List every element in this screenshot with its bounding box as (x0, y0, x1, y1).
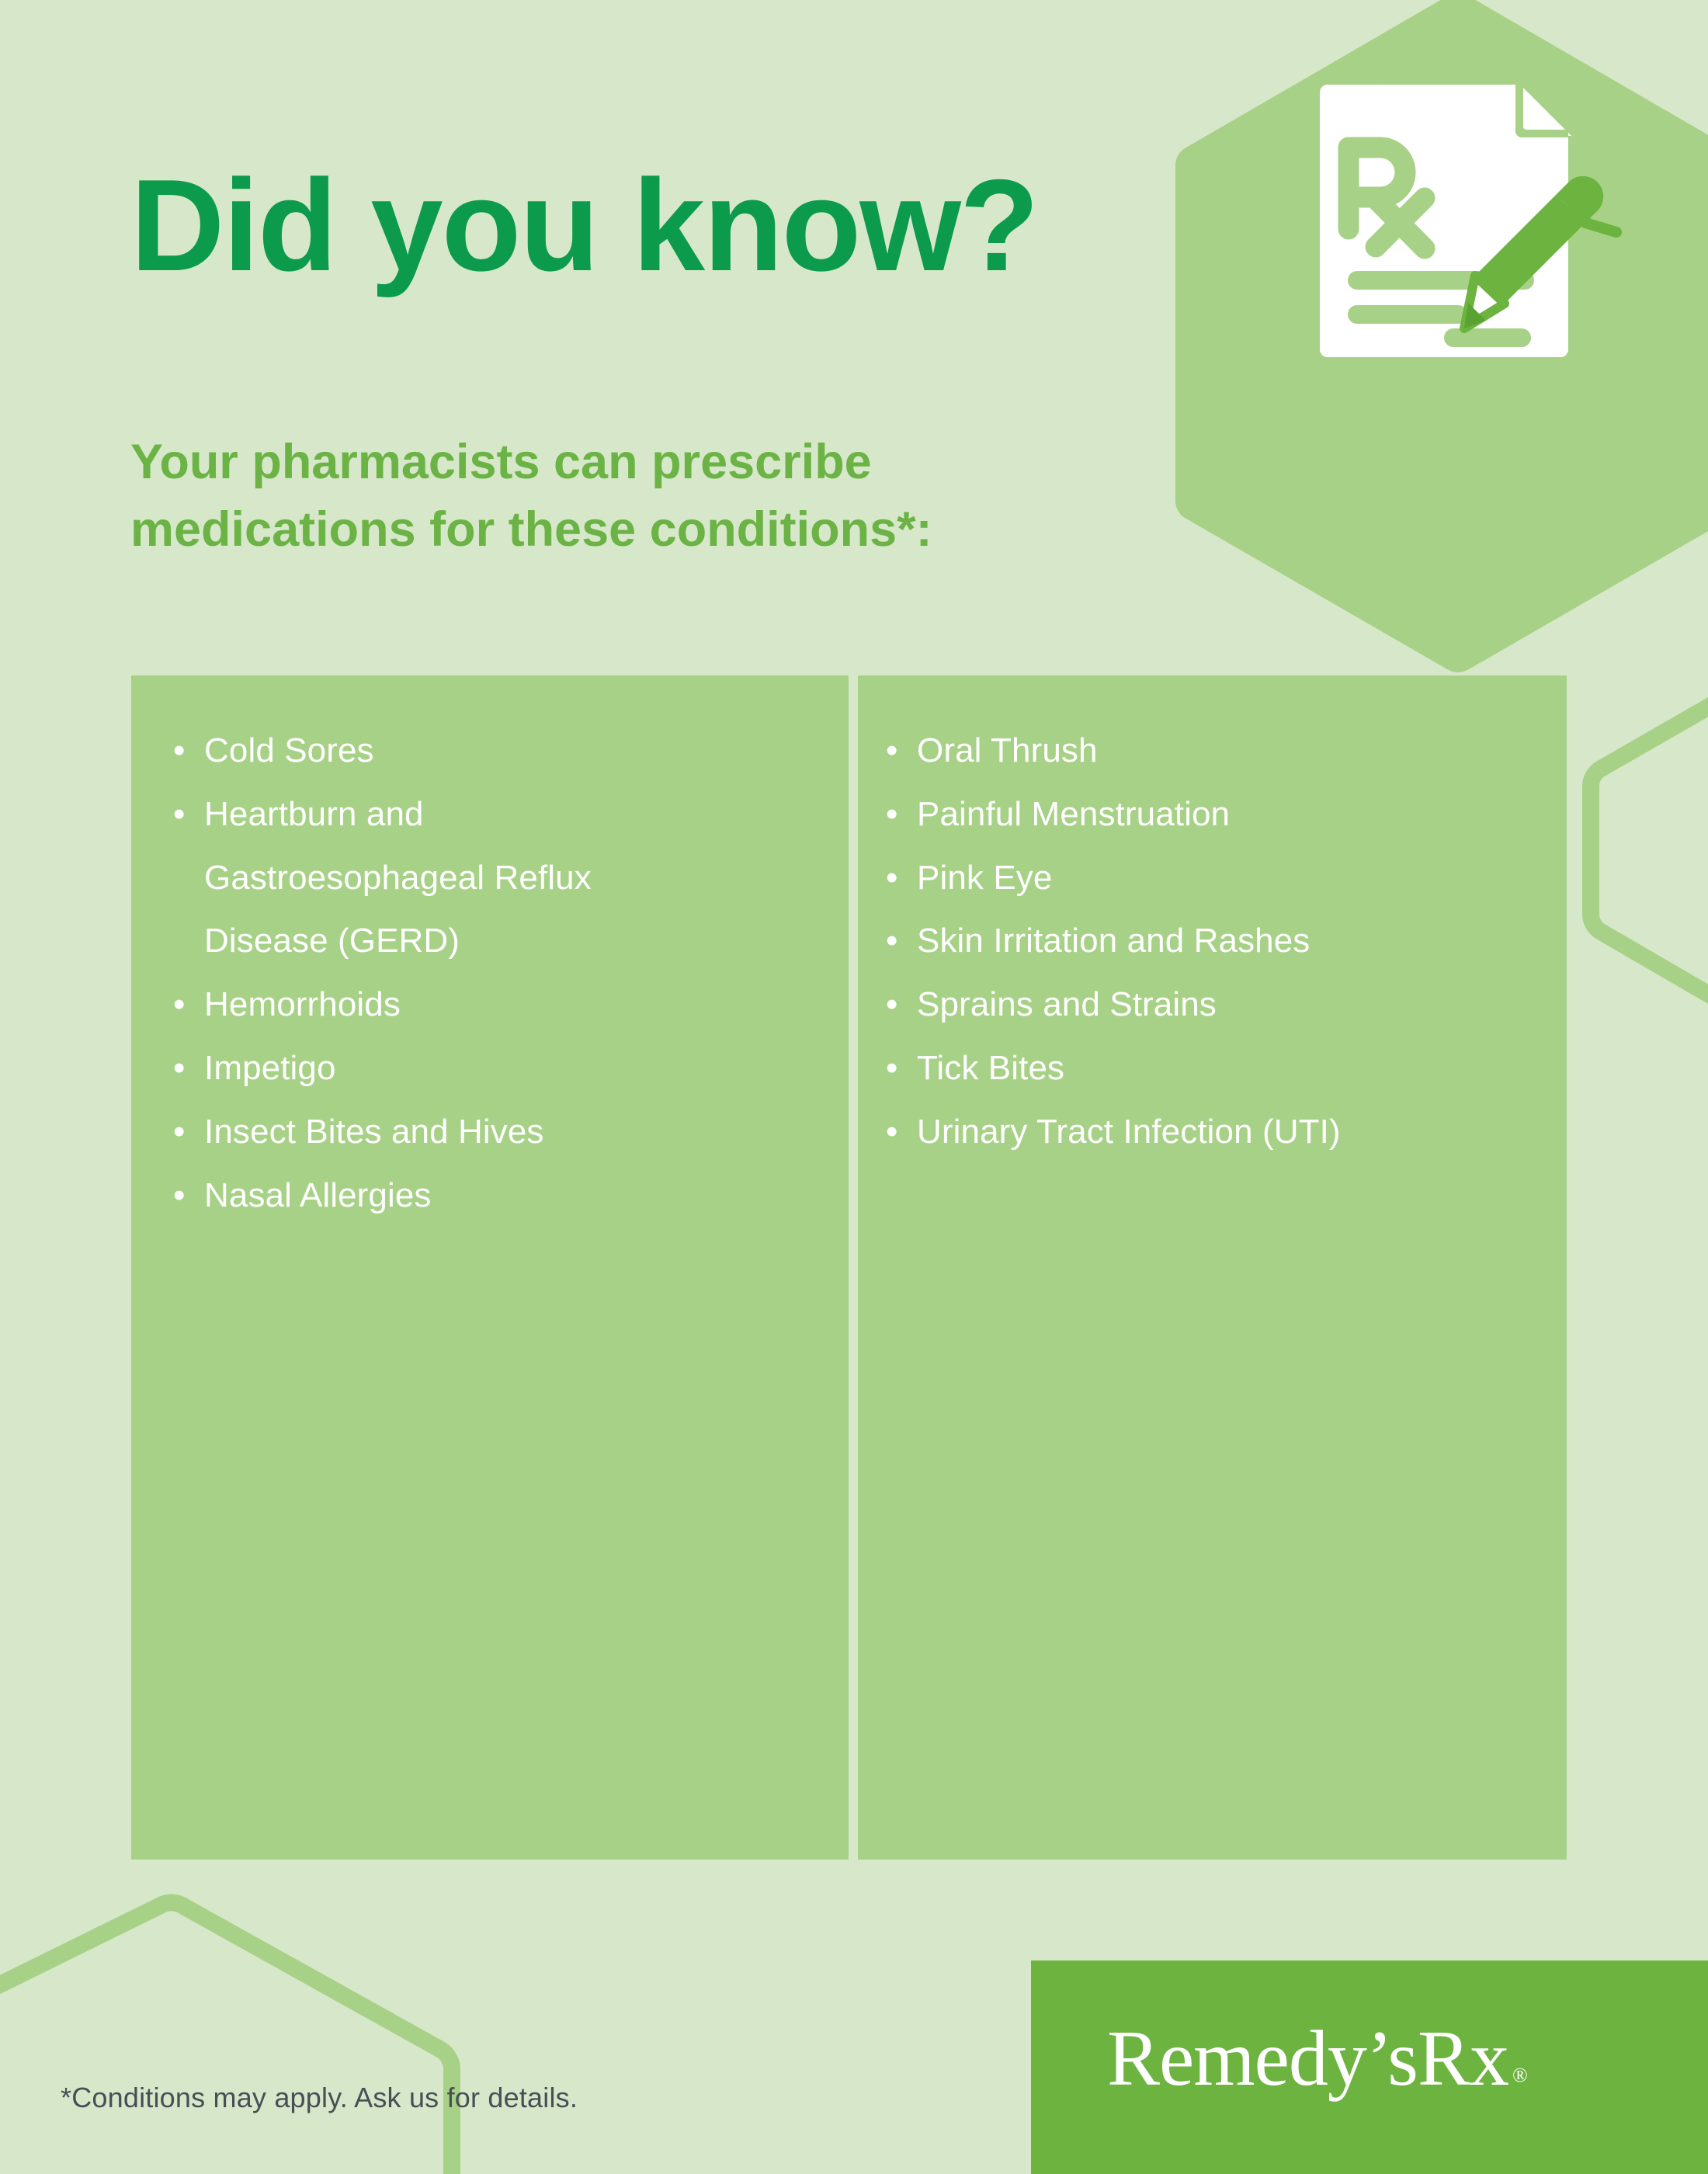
conditions-list-left: Cold Sores Heartburn and Gastroesophagea… (131, 675, 849, 1228)
list-item: Painful Menstruation (881, 783, 1567, 846)
page-subtitle-line-2: medications for these conditions*: (130, 496, 1132, 564)
registered-trademark-icon: ® (1512, 2064, 1527, 2086)
conditions-list-right: Oral Thrush Painful Menstruation Pink Ey… (858, 675, 1567, 1164)
poster-root: Did you know? Your pharmacists can presc… (0, 0, 1708, 2174)
brand-logo-block: Remedy’sRx® (1031, 1960, 1708, 2174)
page-title: Did you know? (130, 160, 1038, 290)
list-item: Tick Bites (881, 1037, 1567, 1100)
document-signature-line (1444, 328, 1531, 347)
document-fold-corner (1520, 85, 1571, 136)
condition-label: Skin Irritation and Rashes (917, 922, 1310, 960)
condition-label: Pink Eye (917, 859, 1052, 897)
prescription-document-icon (1312, 82, 1623, 373)
condition-label: Heartburn and (204, 795, 424, 833)
list-item: Impetigo (168, 1037, 849, 1100)
list-item: Cold Sores (168, 719, 849, 783)
list-item: Insect Bites and Hives (168, 1100, 849, 1164)
list-item: Pink Eye (881, 846, 1567, 910)
conditions-panel-left: Cold Sores Heartburn and Gastroesophagea… (131, 675, 849, 1860)
hexagon-outline-right-icon (1591, 703, 1708, 998)
condition-label: Painful Menstruation (917, 795, 1230, 833)
condition-label: Impetigo (204, 1049, 336, 1087)
list-item: Heartburn and Gastroesophageal Reflux Di… (168, 783, 849, 973)
condition-label: Nasal Allergies (204, 1176, 432, 1214)
condition-label-continuation: Gastroesophageal Reflux (204, 846, 849, 910)
list-item: Nasal Allergies (168, 1164, 849, 1228)
list-item: Urinary Tract Infection (UTI) (881, 1100, 1567, 1164)
condition-label-continuation: Disease (GERD) (204, 909, 849, 973)
condition-label: Tick Bites (917, 1049, 1064, 1087)
hexagon-outline-bottom-left-icon (0, 1903, 452, 2174)
list-item: Oral Thrush (881, 719, 1567, 783)
footnote-disclaimer: *Conditions may apply. Ask us for detail… (61, 2082, 578, 2114)
condition-label: Oral Thrush (917, 731, 1098, 769)
condition-label: Insect Bites and Hives (204, 1113, 544, 1151)
condition-label: Urinary Tract Infection (UTI) (917, 1113, 1341, 1151)
condition-label: Cold Sores (204, 731, 374, 769)
document-rule-line-2 (1348, 305, 1467, 324)
condition-label: Sprains and Strains (917, 985, 1217, 1023)
condition-label: Hemorrhoids (204, 985, 401, 1023)
page-subtitle: Your pharmacists can prescribe medicatio… (130, 429, 1132, 564)
list-item: Hemorrhoids (168, 973, 849, 1037)
brand-wordmark-text: Remedy’sRx (1107, 2015, 1508, 2103)
list-item: Skin Irritation and Rashes (881, 909, 1567, 973)
brand-wordmark: Remedy’sRx® (1107, 2019, 1523, 2099)
page-subtitle-line-1: Your pharmacists can prescribe (130, 429, 1132, 496)
list-item: Sprains and Strains (881, 973, 1567, 1037)
conditions-panel-right: Oral Thrush Painful Menstruation Pink Ey… (858, 675, 1567, 1860)
